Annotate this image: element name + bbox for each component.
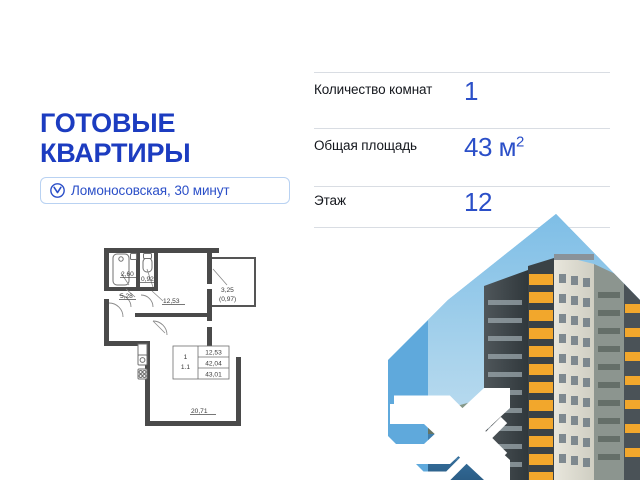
apartment-spec-table: Количество комнат 1 Общая площадь 43 м2 … [314, 72, 610, 228]
building-artwork [388, 208, 640, 480]
spec-label-area: Общая площадь [314, 138, 464, 154]
spec-value-rooms: 1 [464, 78, 478, 104]
plan-label-wc: 0,92 [141, 276, 154, 283]
plan-table-plan-id: 1.1 [181, 364, 190, 371]
plan-label-room: 12,53 [163, 298, 180, 305]
metro-m-icon [50, 183, 65, 198]
page-title-line-1: ГОТОВЫЕ [40, 108, 175, 138]
metro-station-label: Ломоносовская, 30 минут [71, 183, 230, 198]
plan-table-area-total: 43,01 [205, 372, 222, 379]
plan-label-kitchen-living: 20,71 [191, 408, 208, 415]
spec-row-rooms: Количество комнат 1 [314, 73, 610, 128]
spec-row-area: Общая площадь 43 м2 [314, 129, 610, 186]
floor-plan: 2,60 0,92 5,28 12,53 3,25 (0,97) 20,71 [95, 245, 275, 430]
spec-value-area-number: 43 м [464, 132, 516, 162]
page-title-line-2: КВАРТИРЫ [40, 138, 191, 168]
plan-label-balcony-adjusted: (0,97) [219, 296, 236, 303]
page-title: ГОТОВЫЕ КВАРТИРЫ [40, 108, 191, 168]
promo-card: ГОТОВЫЕ КВАРТИРЫ Ломоносовская, 30 минут… [0, 0, 640, 480]
spec-value-area: 43 м2 [464, 134, 524, 160]
plan-info-table: 1 1.1 12,53 42,04 43,01 [173, 346, 229, 379]
plan-label-hall: 5,28 [120, 293, 133, 300]
metro-station-badge[interactable]: Ломоносовская, 30 минут [40, 177, 290, 204]
spec-label-rooms: Количество комнат [314, 82, 464, 98]
plan-label-balcony: 3,25 [221, 287, 234, 294]
plan-label-bathroom: 2,60 [121, 271, 134, 278]
plan-table-rooms: 1 [184, 354, 188, 361]
plan-table-area-living: 42,04 [205, 361, 222, 368]
spec-value-area-unit-sup: 2 [516, 133, 524, 150]
spec-label-floor: Этаж [314, 193, 464, 209]
plan-table-area-room: 12,53 [205, 350, 222, 357]
